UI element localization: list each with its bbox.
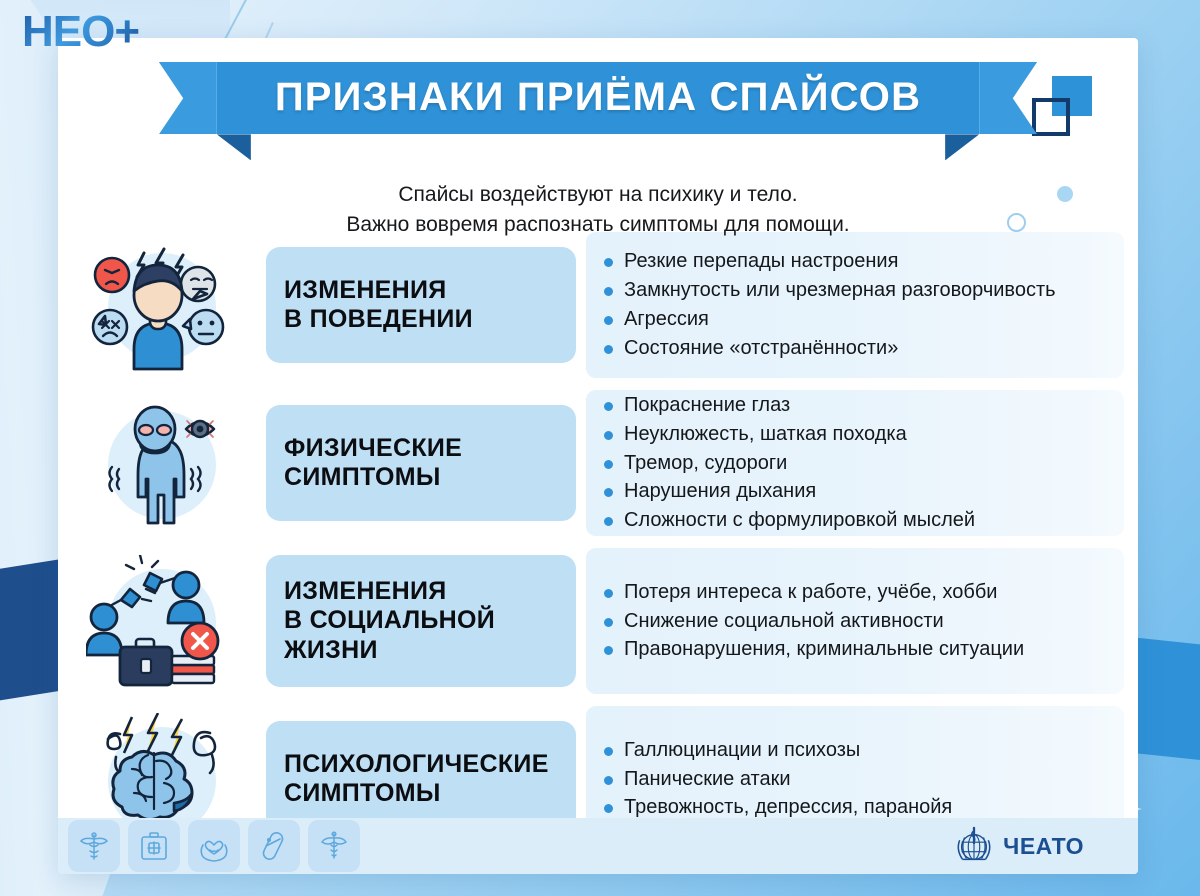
list-item: Правонарушения, криминальные ситуации [602, 635, 1024, 664]
who-emblem-icon [953, 825, 995, 867]
footer-bar: ЧЕАТО [58, 818, 1138, 874]
section-row: ИЗМЕНЕНИЯ В ПОВЕДЕНИИ Резкие перепады на… [58, 226, 1138, 384]
list-item: Агрессия [602, 305, 1056, 334]
poster-card: ПРИЗНАКИ ПРИЁМА СПАЙСОВ Спайсы воздейств… [58, 38, 1138, 874]
broken-social-link-briefcase-icon [86, 555, 238, 687]
section-title-cell: ИЗМЕНЕНИЯ В СОЦИАЛЬНОЙ ЖИЗНИ [266, 555, 576, 688]
list-item: Потеря интереса к работе, учёбе, хобби [602, 578, 1024, 607]
section-row: ИЗМЕНЕНИЯ В СОЦИАЛЬНОЙ ЖИЗНИ Потеря инте… [58, 542, 1138, 700]
footer-icon-group [64, 820, 360, 872]
who-label: ЧЕАТО [1003, 833, 1084, 860]
list-item: Покраснение глаз [602, 391, 975, 420]
list-item: Нарушения дыхания [602, 477, 975, 506]
subtitle: Спайсы воздействуют на психику и тело. В… [58, 180, 1138, 240]
capsule-pill-icon [248, 820, 300, 872]
section-title: ФИЗИЧЕСКИЕ СИМПТОМЫ [284, 434, 462, 493]
ribbon-fold-right [945, 134, 979, 160]
angry-person-emotions-icon [86, 239, 238, 371]
section-icon-cell [58, 397, 266, 529]
page-title: ПРИЗНАКИ ПРИЁМА СПАЙСОВ [275, 76, 921, 118]
section-bullets-cell: Резкие перепады настроения Замкнутость и… [586, 232, 1124, 378]
list-item: Панические атаки [602, 765, 952, 794]
section-title: ИЗМЕНЕНИЯ В ПОВЕДЕНИИ [284, 276, 473, 335]
section-icon-cell [58, 555, 266, 687]
list-item: Тремор, судороги [602, 449, 975, 478]
section-bullets-cell: Потеря интереса к работе, учёбе, хобби С… [586, 548, 1124, 694]
section-row: ФИЗИЧЕСКИЕ СИМПТОМЫ Покраснение глаз Неу… [58, 384, 1138, 542]
section-bullets-cell: Покраснение глаз Неуклюжесть, шаткая пох… [586, 390, 1124, 536]
bullet-list: Покраснение глаз Неуклюжесть, шаткая пох… [602, 391, 975, 535]
list-item: Галлюцинации и психозы [602, 736, 952, 765]
subtitle-line-2: Важно вовремя распознать симптомы для по… [58, 210, 1138, 240]
section-title-cell: ФИЗИЧЕСКИЕ СИМПТОМЫ [266, 405, 576, 521]
list-item: Сложности с формулировкой мыслей [602, 506, 975, 535]
list-item: Состояние «отстранённости» [602, 334, 1056, 363]
trembling-body-red-eyes-icon [86, 397, 238, 529]
heart-in-hands-icon [188, 820, 240, 872]
caduceus-icon [68, 820, 120, 872]
ribbon-tail-left [159, 62, 217, 134]
list-item: Снижение социальной активности [602, 607, 1024, 636]
list-item: Резкие перепады настроения [602, 247, 1056, 276]
list-item: Замкнутость или чрезмерная разговорчивос… [602, 276, 1056, 305]
bullet-list: Резкие перепады настроения Замкнутость и… [602, 247, 1056, 362]
bullet-list: Галлюцинации и психозы Панические атаки … [602, 736, 952, 822]
section-title-cell: ИЗМЕНЕНИЯ В ПОВЕДЕНИИ [266, 247, 576, 363]
ribbon-fold-left [217, 134, 251, 160]
sections-list: ИЗМЕНЕНИЯ В ПОВЕДЕНИИ Резкие перепады на… [58, 226, 1138, 858]
first-aid-kit-icon [128, 820, 180, 872]
bullet-list: Потеря интереса к работе, учёбе, хобби С… [602, 578, 1024, 664]
section-icon-cell [58, 239, 266, 371]
list-item: Неуклюжесть, шаткая походка [602, 420, 975, 449]
brand-logo: HEO+ [22, 10, 139, 54]
ribbon-tail-right [979, 62, 1037, 134]
header-ribbon: ПРИЗНАКИ ПРИЁМА СПАЙСОВ [58, 62, 1138, 134]
section-title: ПСИХОЛОГИЧЕСКИЕ СИМПТОМЫ [284, 750, 549, 809]
caduceus-wings-icon [308, 820, 360, 872]
who-logo: ЧЕАТО [953, 825, 1124, 867]
subtitle-line-1: Спайсы воздействуют на психику и тело. [58, 180, 1138, 210]
poster-root: HEO+ ПРИЗНАКИ ПРИЁМА СПАЙСОВ Спайсы возд… [0, 0, 1200, 896]
section-title: ИЗМЕНЕНИЯ В СОЦИАЛЬНОЙ ЖИЗНИ [284, 577, 495, 666]
